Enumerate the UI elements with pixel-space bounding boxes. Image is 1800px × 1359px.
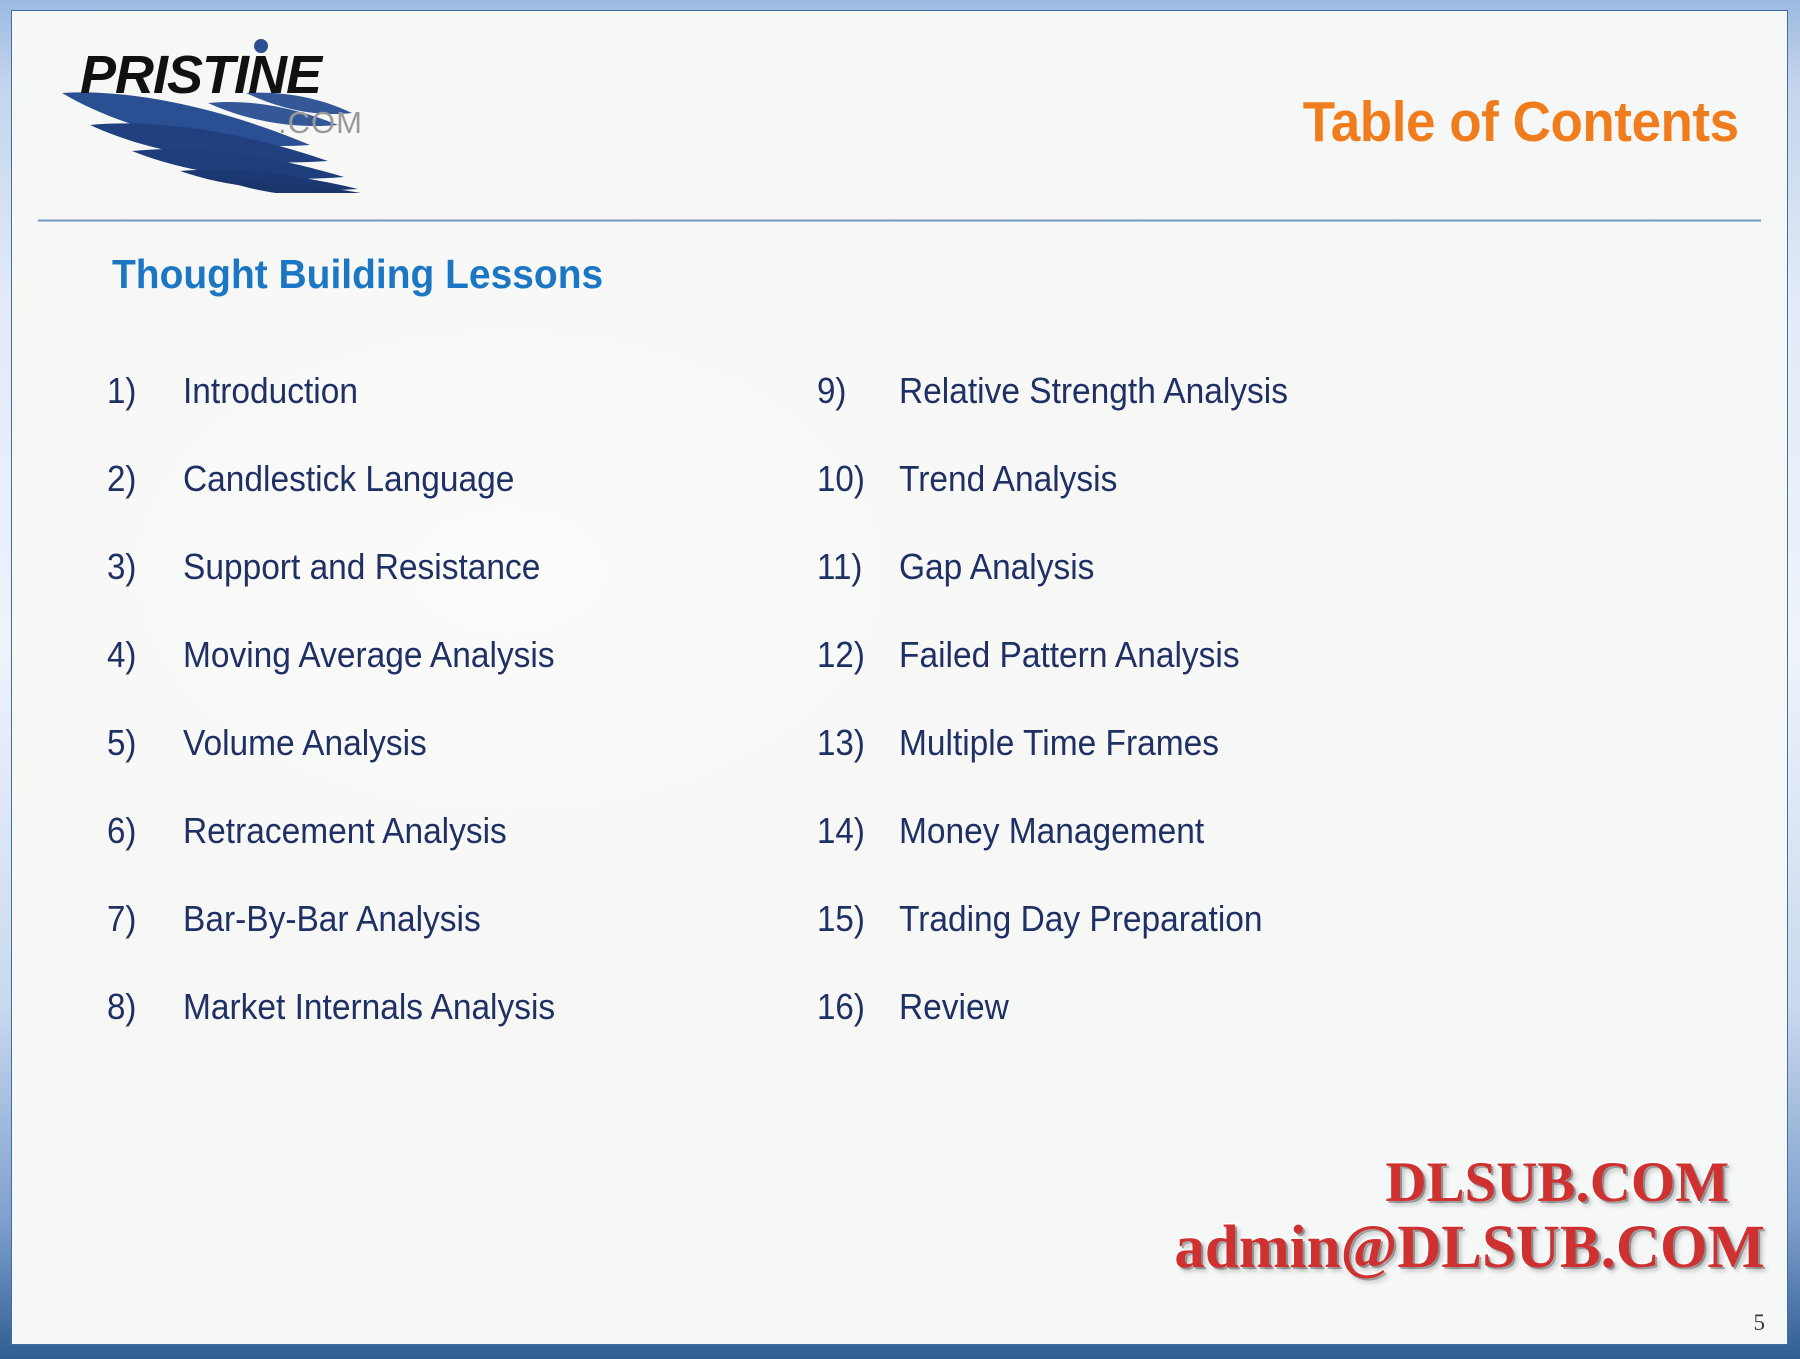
list-item-number: 9): [817, 347, 892, 435]
list-item-number: 2): [107, 435, 177, 523]
watermark: DLSUB.COM admin@DLSUB.COM: [1174, 1154, 1765, 1278]
pristine-logo: PRISTINE .COM: [60, 33, 420, 193]
list-item-label: Relative Strength Analysis: [899, 347, 1288, 435]
pristine-logo-icon: PRISTINE .COM: [60, 33, 420, 193]
watermark-site: DLSUB.COM: [1174, 1154, 1729, 1211]
list-item-label: Failed Pattern Analysis: [899, 611, 1240, 699]
list-item-number: 3): [107, 523, 177, 611]
list-item[interactable]: 15) Trading Day Preparation: [817, 875, 1577, 963]
list-item-label: Market Internals Analysis: [183, 963, 555, 1051]
list-item[interactable]: 8) Market Internals Analysis: [107, 963, 807, 1051]
list-item[interactable]: 3) Support and Resistance: [107, 523, 807, 611]
list-item[interactable]: 12) Failed Pattern Analysis: [817, 611, 1577, 699]
list-item-label: Bar-By-Bar Analysis: [183, 875, 481, 963]
list-item-label: Review: [899, 963, 1009, 1051]
section-heading: Thought Building Lessons: [112, 251, 603, 298]
slide-frame: PRISTINE .COM Table of Contents Thought …: [0, 0, 1800, 1359]
list-item-label: Trading Day Preparation: [899, 875, 1263, 963]
toc-column-right: 9) Relative Strength Analysis 10) Trend …: [817, 347, 1577, 1051]
list-item-number: 7): [107, 875, 177, 963]
list-item[interactable]: 5) Volume Analysis: [107, 699, 807, 787]
logo-wordmark: PRISTINE: [80, 45, 324, 105]
list-item-label: Volume Analysis: [183, 699, 427, 787]
list-item-number: 1): [107, 347, 177, 435]
list-item[interactable]: 7) Bar-By-Bar Analysis: [107, 875, 807, 963]
watermark-email: admin@DLSUB.COM: [1174, 1217, 1765, 1278]
list-item[interactable]: 14) Money Management: [817, 787, 1577, 875]
list-item-label: Introduction: [183, 347, 358, 435]
list-item[interactable]: 16) Review: [817, 963, 1577, 1051]
list-item-label: Multiple Time Frames: [899, 699, 1219, 787]
list-item-number: 16): [817, 963, 892, 1051]
list-item[interactable]: 4) Moving Average Analysis: [107, 611, 807, 699]
slide-canvas: PRISTINE .COM Table of Contents Thought …: [12, 11, 1787, 1344]
logo-suffix: .COM: [278, 105, 363, 140]
slide-header: PRISTINE .COM Table of Contents: [12, 11, 1787, 213]
list-item-number: 8): [107, 963, 177, 1051]
list-item[interactable]: 1) Introduction: [107, 347, 807, 435]
list-item-number: 15): [817, 875, 892, 963]
list-item[interactable]: 9) Relative Strength Analysis: [817, 347, 1577, 435]
toc-column-left: 1) Introduction 2) Candlestick Language …: [107, 347, 807, 1051]
list-item-number: 5): [107, 699, 177, 787]
list-item[interactable]: 10) Trend Analysis: [817, 435, 1577, 523]
list-item[interactable]: 2) Candlestick Language: [107, 435, 807, 523]
list-item-number: 6): [107, 787, 177, 875]
list-item[interactable]: 11) Gap Analysis: [817, 523, 1577, 611]
list-item-number: 4): [107, 611, 177, 699]
header-divider: [38, 219, 1761, 222]
list-item-number: 12): [817, 611, 892, 699]
list-item[interactable]: 13) Multiple Time Frames: [817, 699, 1577, 787]
list-item-number: 13): [817, 699, 892, 787]
page-title: Table of Contents: [1303, 89, 1739, 155]
list-item-number: 11): [817, 523, 892, 611]
list-item[interactable]: 6) Retracement Analysis: [107, 787, 807, 875]
list-item-label: Money Management: [899, 787, 1204, 875]
list-item-number: 14): [817, 787, 892, 875]
list-item-label: Retracement Analysis: [183, 787, 507, 875]
list-item-label: Gap Analysis: [899, 523, 1094, 611]
list-item-label: Support and Resistance: [183, 523, 540, 611]
list-item-label: Candlestick Language: [183, 435, 514, 523]
table-of-contents: 1) Introduction 2) Candlestick Language …: [12, 347, 1787, 1051]
page-number: 5: [1754, 1310, 1766, 1336]
list-item-label: Trend Analysis: [899, 435, 1117, 523]
list-item-number: 10): [817, 435, 892, 523]
list-item-label: Moving Average Analysis: [183, 611, 555, 699]
